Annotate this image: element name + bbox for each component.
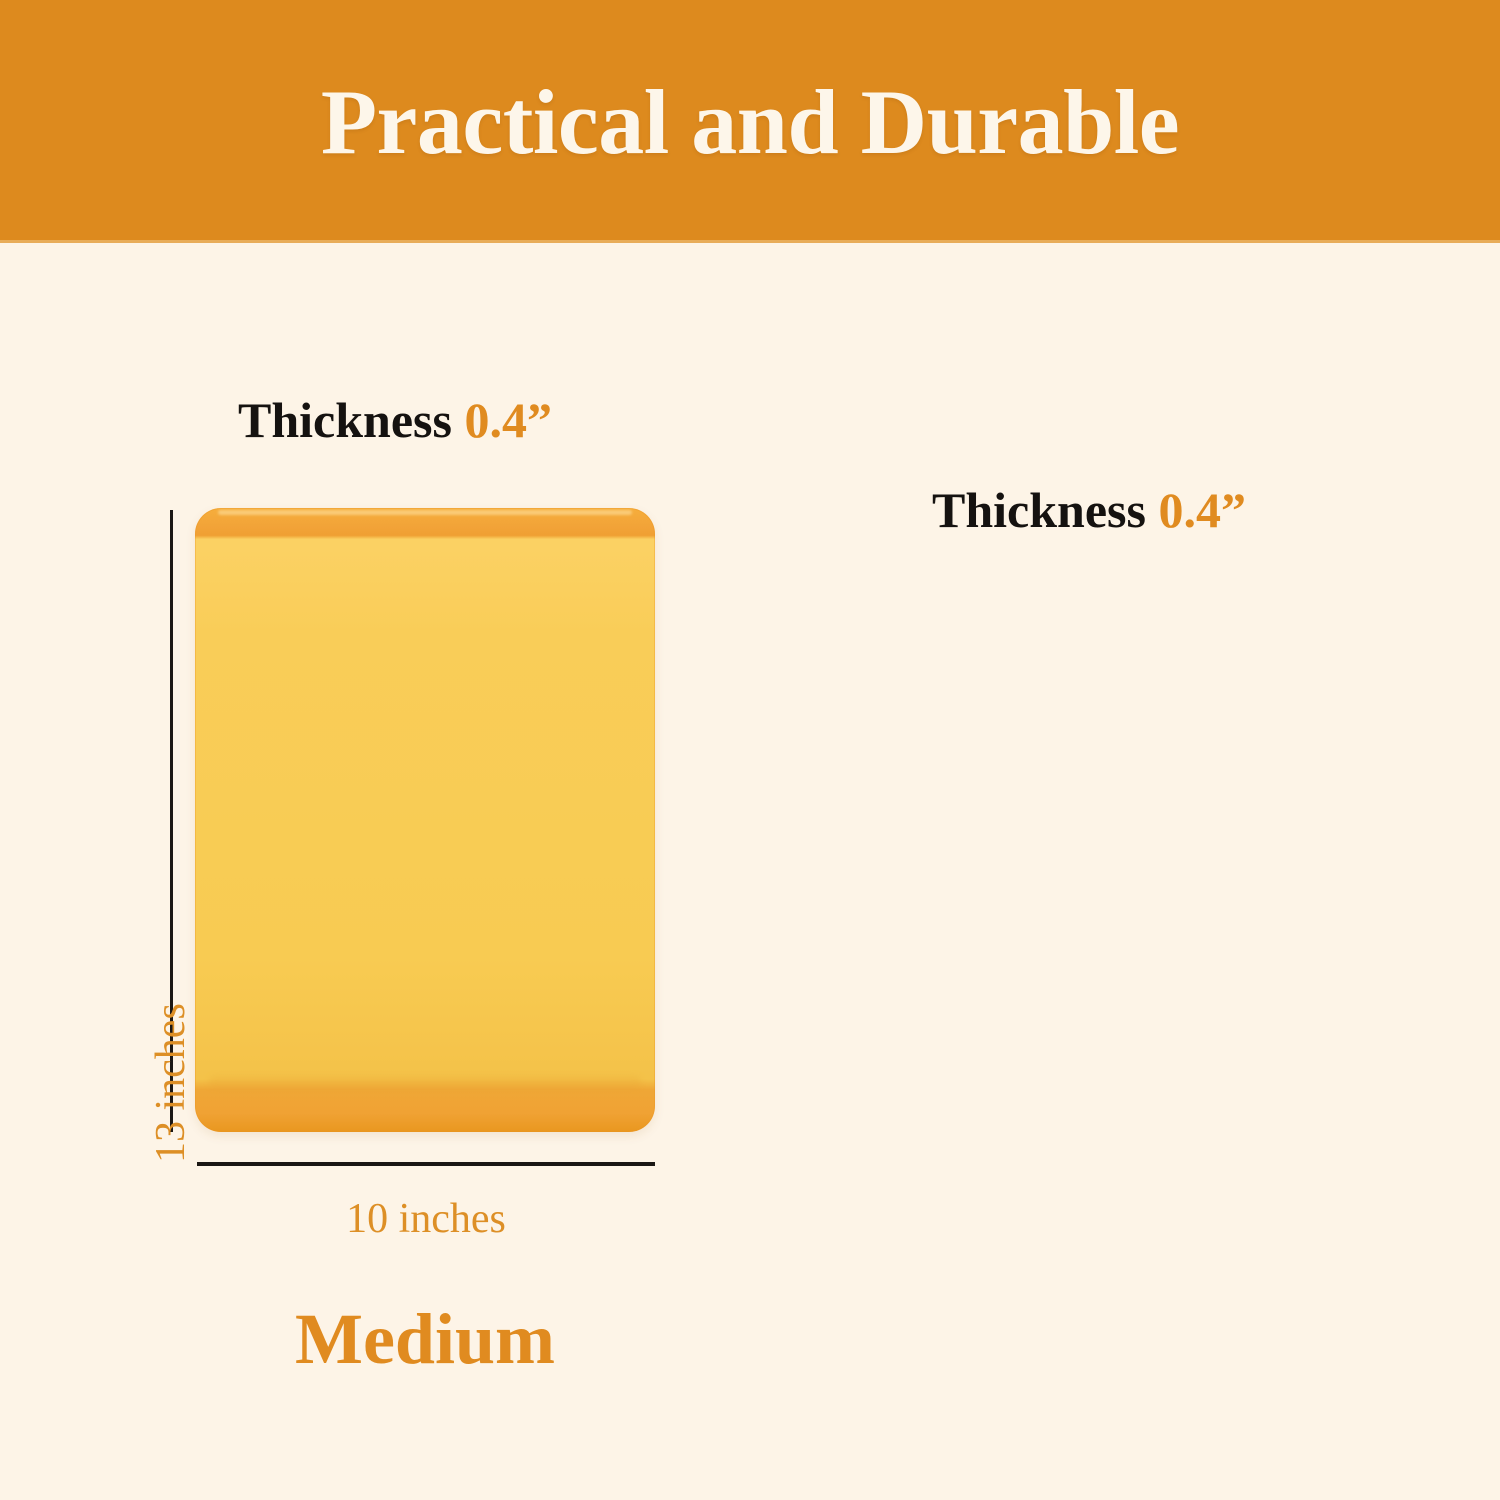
page-title: Practical and Durable bbox=[321, 76, 1179, 168]
product-tray-medium bbox=[195, 508, 655, 1132]
thickness-prefix-medium: Thickness bbox=[238, 392, 452, 448]
thickness-label-medium: Thickness 0.4” bbox=[238, 395, 552, 445]
thickness-value-small: 0.4” bbox=[1158, 482, 1246, 538]
product-comparison-stage: Thickness 0.4” 13 inches 10 inches Mediu… bbox=[0, 243, 1500, 1500]
thickness-prefix-small: Thickness bbox=[932, 482, 1146, 538]
thickness-value-medium: 0.4” bbox=[464, 392, 552, 448]
product-group-medium: Thickness 0.4” 13 inches 10 inches Mediu… bbox=[0, 243, 760, 1500]
width-dimension-line-medium bbox=[197, 1162, 655, 1166]
width-dimension-label-medium: 10 inches bbox=[197, 1198, 655, 1240]
thickness-label-small: Thickness 0.4” bbox=[932, 485, 1246, 535]
product-group-small: Thickness 0.4” 11 inches 9 inches Small bbox=[760, 243, 1500, 1500]
height-dimension-label-medium: 13 inches bbox=[150, 1003, 192, 1163]
header-banner: Practical and Durable bbox=[0, 0, 1500, 243]
size-name-medium: Medium bbox=[195, 1303, 655, 1375]
